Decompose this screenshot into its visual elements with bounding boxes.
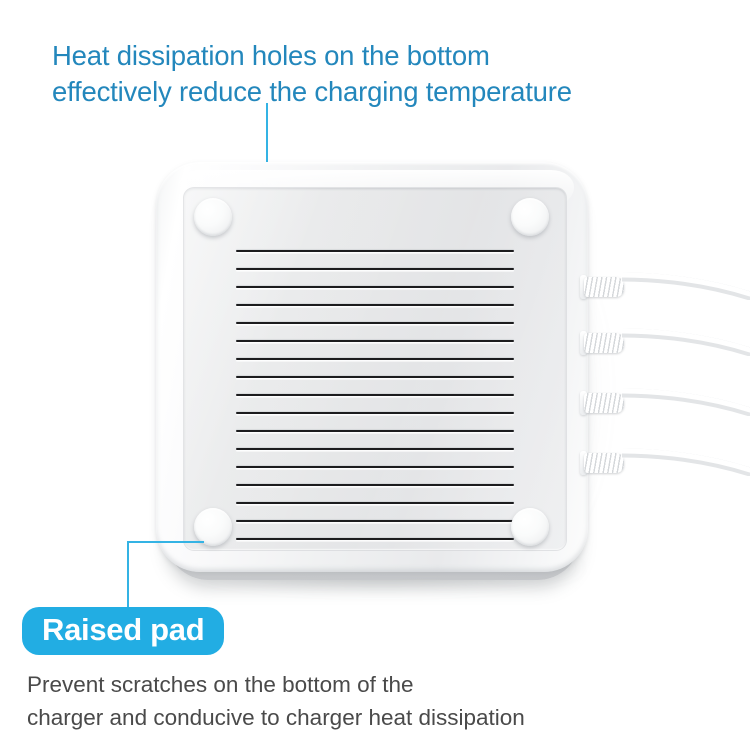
cable-strain-relief-boot (584, 333, 624, 353)
cable-wire (622, 326, 750, 356)
device-bottom-plate (184, 188, 566, 550)
charging-cables-group (580, 268, 750, 496)
charging-cable-3 (580, 384, 750, 418)
vent-slot (236, 268, 514, 270)
vent-slot (236, 286, 514, 288)
description-text: Prevent scratches on the bottom of the c… (27, 668, 727, 735)
charging-cable-1 (580, 268, 750, 302)
vent-slot (236, 538, 514, 540)
vent-slot (236, 430, 514, 432)
corner-pad-top-right (511, 198, 549, 236)
status-badge: Raised pad (22, 607, 224, 655)
vent-slot (236, 340, 514, 342)
vent-slot (236, 322, 514, 324)
vent-slot (236, 250, 514, 252)
vent-slot (236, 412, 514, 414)
page-title: Heat dissipation holes on the bottom eff… (52, 38, 722, 110)
pad-callout-leader-horizontal (127, 541, 204, 543)
vent-slot (236, 466, 514, 468)
charging-cable-4 (580, 444, 750, 478)
heat-dissipation-vents (236, 250, 514, 550)
corner-pad-bottom-right (511, 508, 549, 546)
corner-pad-top-left (194, 198, 232, 236)
cable-strain-relief-boot (584, 393, 624, 413)
vent-slot (236, 448, 514, 450)
vent-slot (236, 484, 514, 486)
charger-device (152, 158, 592, 590)
charging-cable-2 (580, 324, 750, 358)
device-outer-shell (156, 162, 588, 572)
cable-wire (622, 270, 750, 300)
vent-slot (236, 520, 514, 522)
infographic-canvas: Heat dissipation holes on the bottom eff… (0, 0, 750, 750)
pad-callout-leader-vertical (127, 541, 129, 610)
cable-wire (622, 386, 750, 416)
vent-slot (236, 502, 514, 504)
cable-wire (622, 446, 750, 476)
vent-slot (236, 358, 514, 360)
vent-slot (236, 304, 514, 306)
vent-slot (236, 394, 514, 396)
cable-strain-relief-boot (584, 453, 624, 473)
cable-strain-relief-boot (584, 277, 624, 297)
vent-slot (236, 376, 514, 378)
